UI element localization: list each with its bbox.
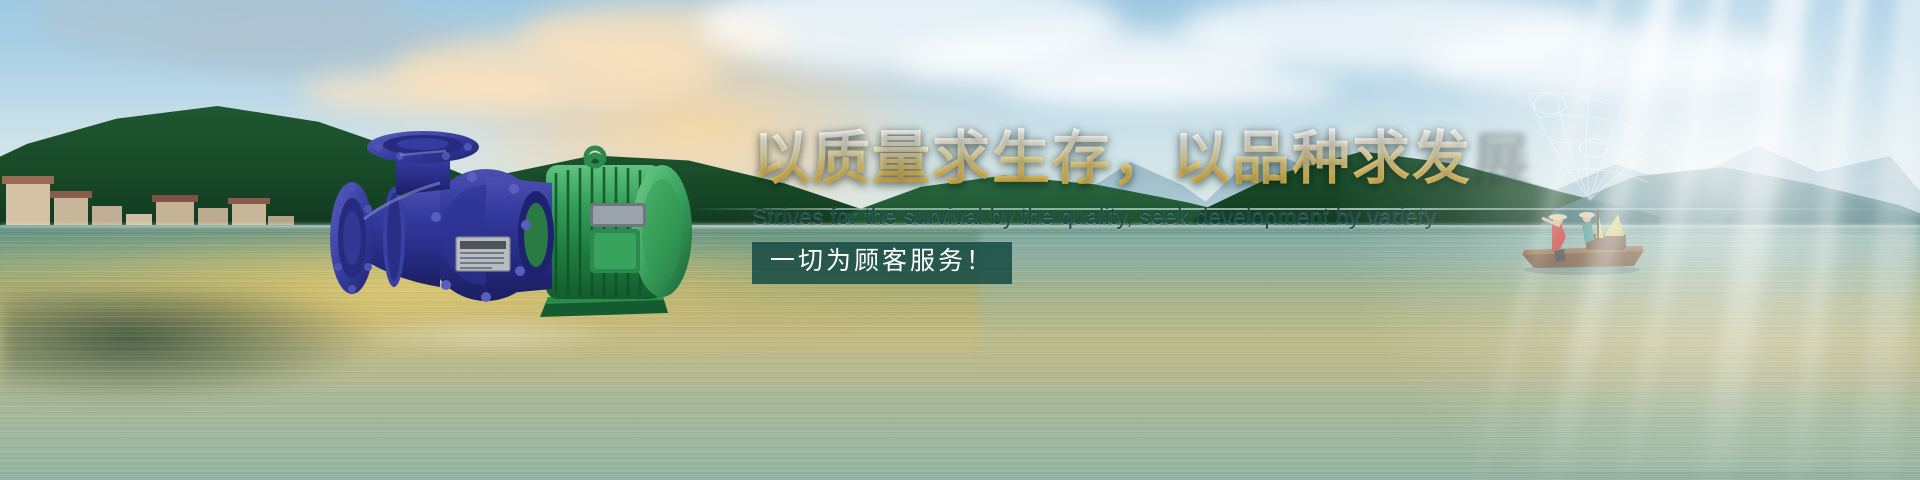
- banner-headline: 以质量求生存，以品种求发展: [752, 128, 1472, 189]
- product-image-pump: [290, 125, 710, 340]
- hero-banner: 以质量求生存，以品种求发展 Strives for the survival b…: [0, 0, 1920, 480]
- banner-subheadline: Strives for the survival by the quality,…: [752, 203, 1472, 230]
- banner-text-block: 以质量求生存，以品种求发展 Strives for the survival b…: [752, 128, 1472, 284]
- pump-nameplate: [456, 237, 510, 271]
- banner-tagline-box: 一切为顾客服务！: [752, 242, 1012, 284]
